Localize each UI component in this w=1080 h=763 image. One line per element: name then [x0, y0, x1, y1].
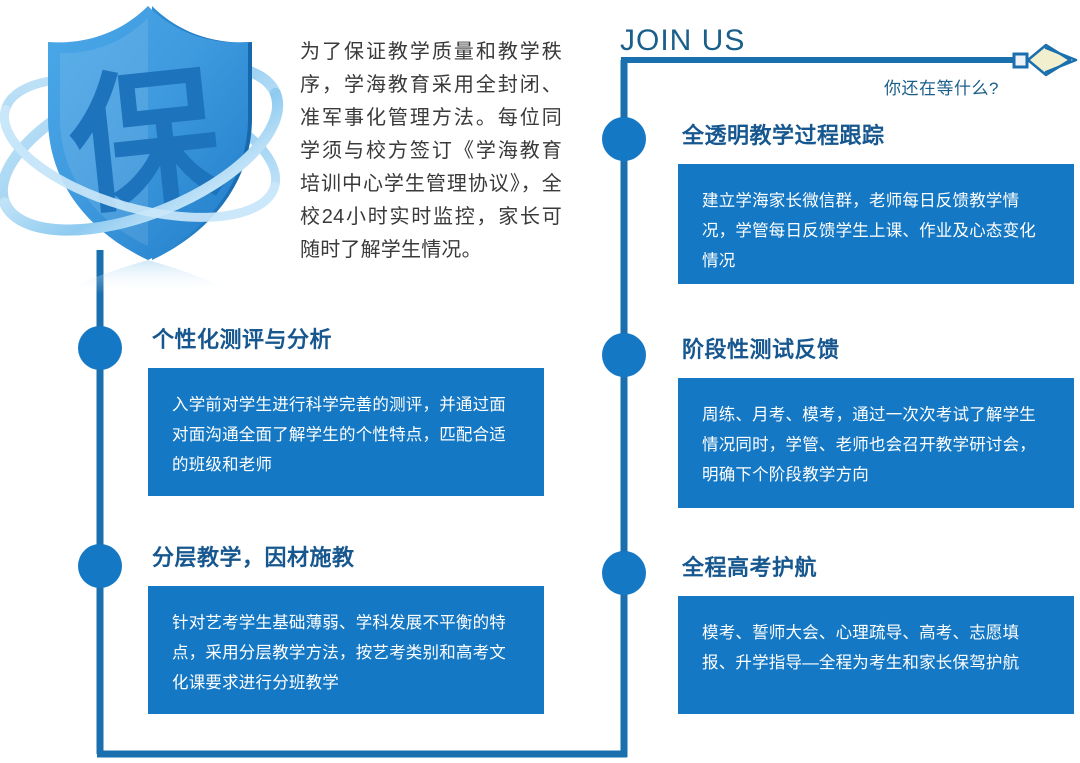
shield-reflection	[70, 260, 226, 294]
shield-icon: 保	[0, 0, 290, 298]
node-bullet-right-1	[602, 117, 646, 161]
node-left-2[interactable]: 分层教学，因材施教 针对艺考学生基础薄弱、学科发展不平衡的特点，采用分层教学方法…	[148, 540, 544, 714]
node-right-1-body: 建立学海家长微信群，老师每日反馈教学情况，学管每日反馈学生上课、作业及心态变化情…	[678, 164, 1074, 284]
join-us-title: JOIN US	[620, 24, 745, 58]
node-right-3-title: 全程高考护航	[682, 550, 1074, 582]
node-bullet-left-2	[78, 544, 122, 588]
node-left-1-body: 入学前对学生进行科学完善的测评，并通过面对面沟通全面了解学生的个性特点，匹配合适…	[148, 368, 544, 496]
node-left-2-title: 分层教学，因材施教	[152, 540, 544, 572]
node-bullet-left-1	[78, 326, 122, 370]
node-right-2-body: 周练、月考、模考，通过一次次考试了解学生情况同时，学管、老师也会召开教学研讨会，…	[678, 378, 1074, 508]
pen-nib-arrow-icon	[1014, 45, 1076, 75]
node-right-3[interactable]: 全程高考护航 模考、誓师大会、心理疏导、高考、志愿填报、升学指导—全程为考生和家…	[678, 550, 1074, 714]
node-right-3-body: 模考、誓师大会、心理疏导、高考、志愿填报、升学指导—全程为考生和家长保驾护航	[678, 596, 1074, 714]
shield-logo: 保	[0, 0, 290, 298]
node-left-1-title: 个性化测评与分析	[152, 322, 544, 354]
node-right-1-title: 全透明教学过程跟踪	[682, 118, 1074, 150]
node-left-2-body: 针对艺考学生基础薄弱、学科发展不平衡的特点，采用分层教学方法，按艺考类别和高考文…	[148, 586, 544, 714]
node-right-2[interactable]: 阶段性测试反馈 周练、月考、模考，通过一次次考试了解学生情况同时，学管、老师也会…	[678, 332, 1074, 508]
node-left-1[interactable]: 个性化测评与分析 入学前对学生进行科学完善的测评，并通过面对面沟通全面了解学生的…	[148, 322, 544, 496]
intro-paragraph: 为了保证教学质量和教学秩序，学海教育采用全封闭、准军事化管理方法。每位同学须与校…	[300, 36, 562, 267]
shield-character: 保	[62, 51, 231, 234]
node-bullet-right-2	[602, 333, 646, 377]
node-bullet-right-3	[602, 551, 646, 595]
tagline-text: 你还在等什么?	[884, 74, 999, 99]
node-right-2-title: 阶段性测试反馈	[682, 332, 1074, 364]
node-right-1[interactable]: 全透明教学过程跟踪 建立学海家长微信群，老师每日反馈教学情况，学管每日反馈学生上…	[678, 118, 1074, 284]
infographic-canvas: 保 为了保证教学质量和教学秩序，学海教育采用全封闭、准军事化管理方法。每位同学须…	[0, 0, 1080, 763]
